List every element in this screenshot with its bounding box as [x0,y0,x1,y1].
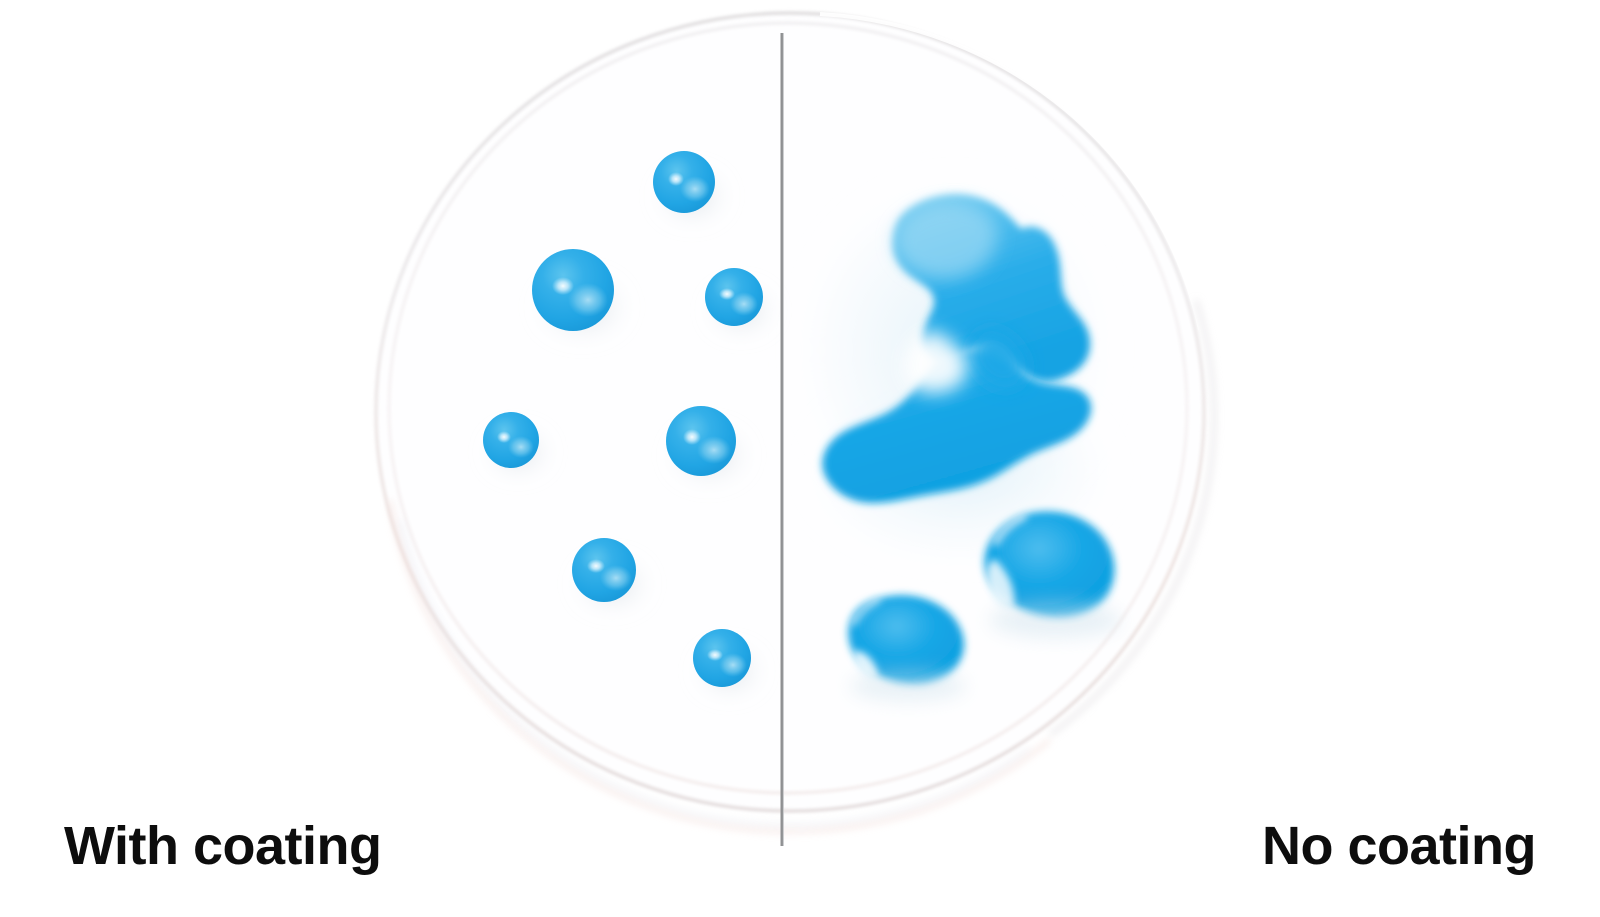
vertical-divider [782,33,783,846]
spill-puddle-right-shadow [989,602,1121,638]
droplet-5-specular [683,429,701,445]
droplet-5-lobe [697,436,731,464]
droplet-1-specular [668,172,684,186]
droplet-6-specular [587,559,605,573]
figure-canvas: With coating No coating [0,0,1600,917]
droplet-6-lobe [600,565,632,591]
caption-with-coating: With coating [64,819,381,873]
droplet-4-lobe [508,436,534,458]
droplet-4-specular [497,431,511,443]
petri-dish-illustration [0,0,1600,917]
droplet-7-specular [707,649,723,661]
caption-no-coating: No coating [1262,819,1536,873]
droplet-3-specular [719,288,735,300]
droplet-7-lobe [719,653,747,677]
droplet-2-lobe [568,283,608,317]
droplet-1-lobe [680,176,710,202]
droplet-2-specular [552,277,574,295]
spill-puddle-left-shadow [850,671,966,701]
